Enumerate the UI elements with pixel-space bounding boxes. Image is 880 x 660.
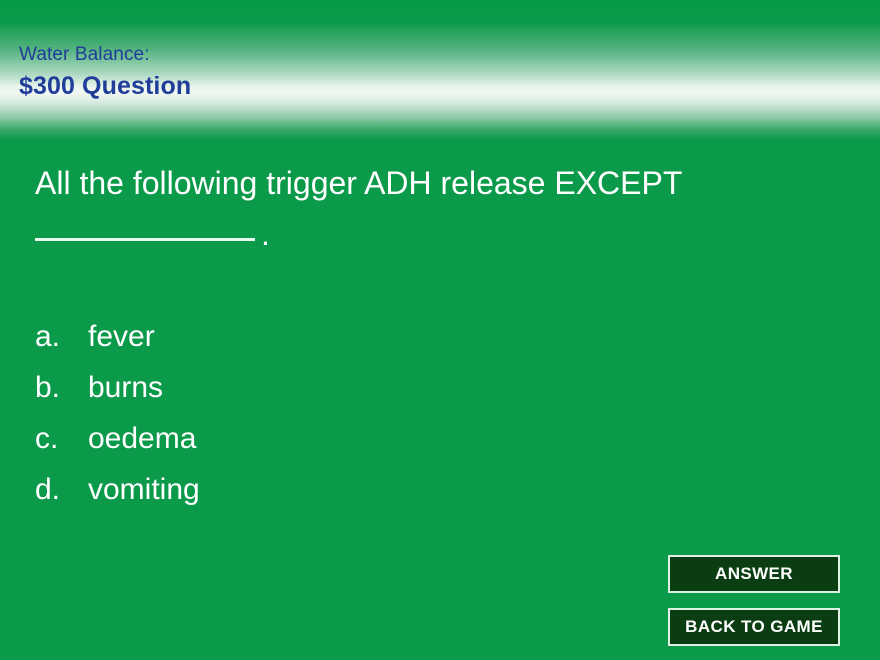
- back-to-game-button[interactable]: BACK TO GAME: [668, 608, 840, 646]
- option-marker-d: d.: [35, 464, 88, 515]
- category-title: Water Balance:: [19, 42, 191, 68]
- option-marker-a: a.: [35, 311, 88, 362]
- option-label-c: oedema: [88, 413, 196, 464]
- option-marker-b: b.: [35, 362, 88, 413]
- option-label-b: burns: [88, 362, 163, 413]
- question-terminator: .: [261, 216, 270, 252]
- answer-button[interactable]: ANSWER: [668, 555, 840, 593]
- list-item[interactable]: d. vomiting: [35, 464, 200, 515]
- answer-blank: [35, 210, 255, 241]
- action-button-group: ANSWER BACK TO GAME: [668, 555, 840, 646]
- question-value-title: $300 Question: [19, 70, 191, 102]
- option-marker-c: c.: [35, 413, 88, 464]
- question-block: All the following trigger ADH release EX…: [35, 158, 835, 260]
- header: Water Balance: $300 Question: [19, 42, 191, 102]
- quiz-slide: Water Balance: $300 Question All the fol…: [0, 0, 880, 660]
- option-label-d: vomiting: [88, 464, 200, 515]
- answer-options-list: a. fever b. burns c. oedema d. vomiting: [35, 311, 200, 515]
- list-item[interactable]: b. burns: [35, 362, 200, 413]
- list-item[interactable]: c. oedema: [35, 413, 200, 464]
- question-stem: All the following trigger ADH release EX…: [35, 165, 682, 201]
- question-text: All the following trigger ADH release EX…: [35, 158, 835, 260]
- list-item[interactable]: a. fever: [35, 311, 200, 362]
- option-label-a: fever: [88, 311, 155, 362]
